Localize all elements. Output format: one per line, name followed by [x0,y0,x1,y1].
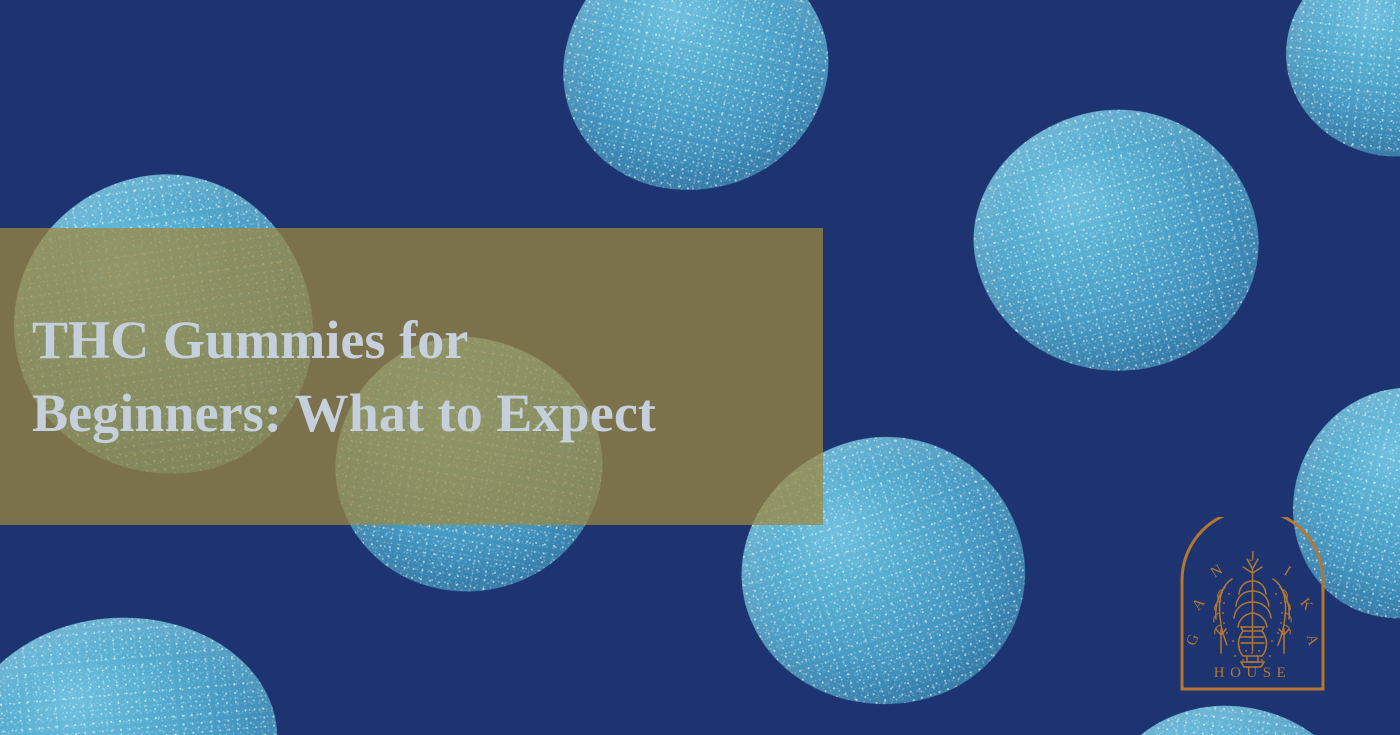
logo-letter-a2: A [1303,632,1321,647]
ganjika-house-logo[interactable]: G A N J I K A [1177,517,1328,694]
page-title-line-1: THC Gummies for [32,304,792,377]
gummy-top-far-right [1276,0,1400,166]
logo-letter-j: J [1249,549,1255,565]
logo-wordmark-house: HOUSE [1214,665,1292,681]
logo-letter-n: N [1208,562,1226,581]
logo-letter-i: I [1281,563,1294,579]
logo-letter-g: G [1184,632,1202,647]
logo-letter-a1: A [1189,595,1208,614]
gummy-bottom-left [0,604,289,735]
gummy-top-right [947,80,1284,402]
logo-letter-k: K [1297,595,1316,614]
article-hero-banner: THC Gummies for Beginners: What to Expec… [0,0,1400,735]
gummy-bottom-right [1085,691,1373,735]
gummy-top-center [542,0,851,216]
ganjika-house-logo-mark: G A N J I K A [1177,517,1328,694]
page-title: THC Gummies for Beginners: What to Expec… [0,304,792,450]
page-title-line-2: Beginners: What to Expect [32,377,792,450]
title-overlay-band: THC Gummies for Beginners: What to Expec… [0,228,823,525]
